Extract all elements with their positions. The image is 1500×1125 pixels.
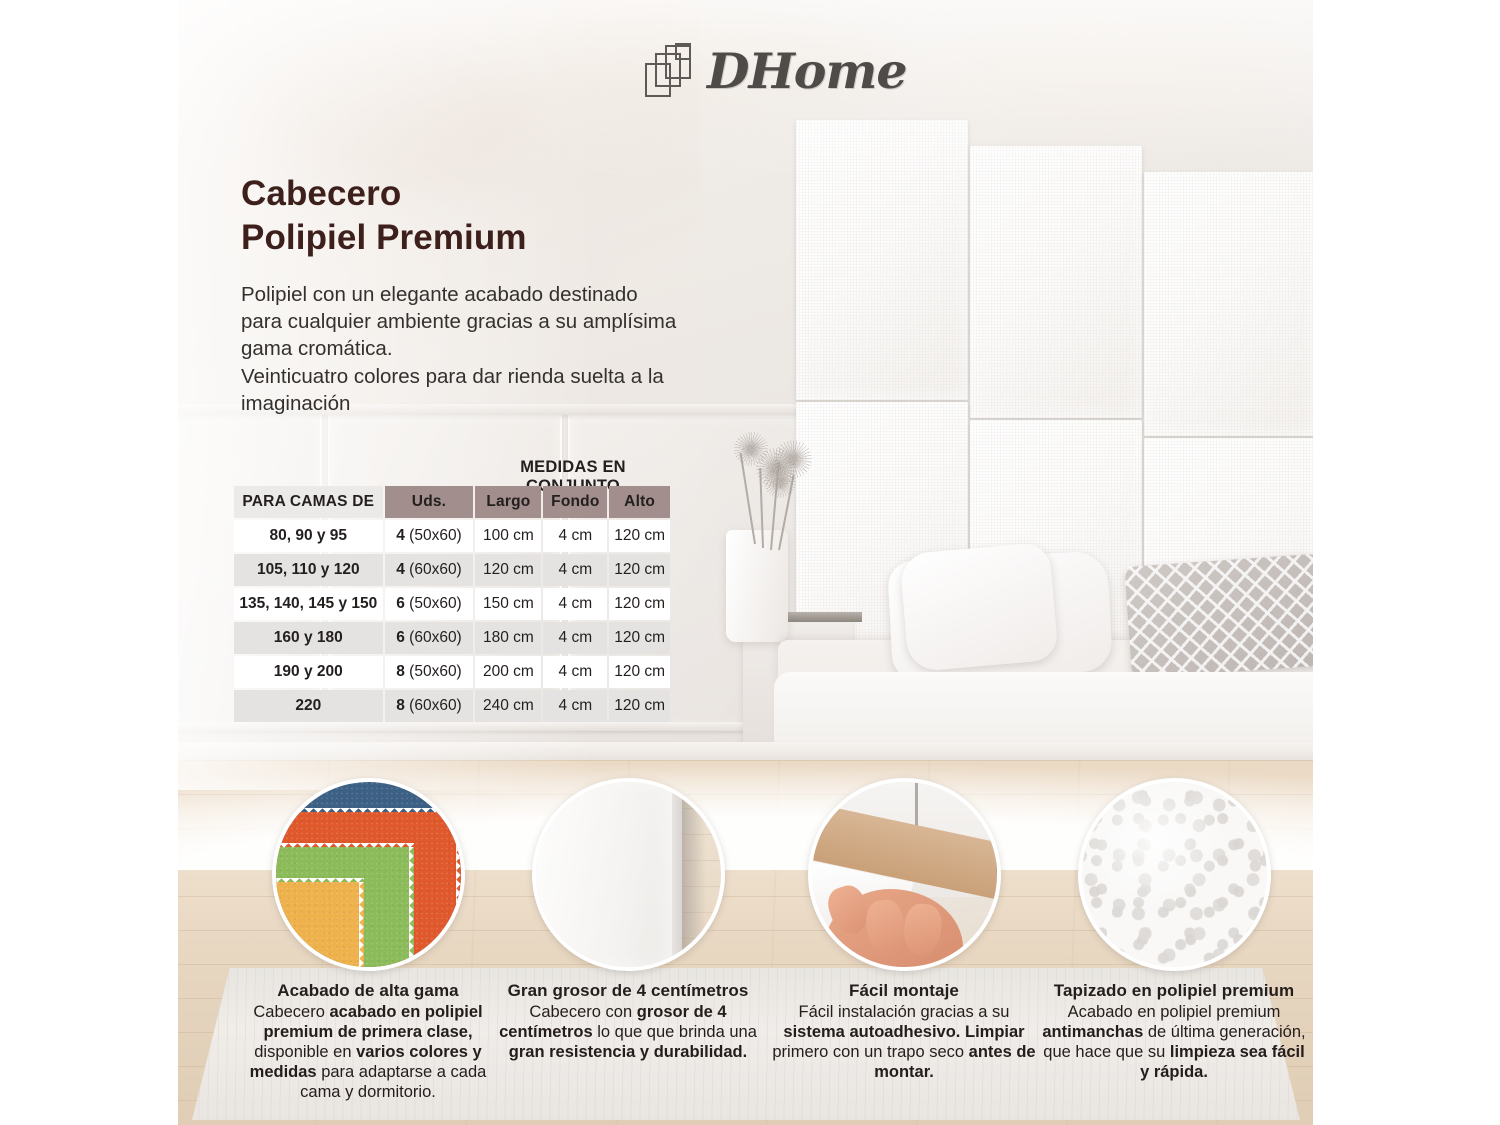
feature-body: Fácil instalación gracias a su sistema a… — [772, 1003, 1036, 1083]
cell-alto: 120 cm — [609, 554, 670, 586]
column-header-alto: Alto — [609, 486, 670, 518]
cell-uds: 6 (60x60) — [385, 622, 474, 654]
column-header-uds: Uds. — [385, 486, 474, 518]
cell-beds: 135, 140, 145 y 150 — [234, 588, 383, 620]
cell-uds: 4 (50x60) — [385, 520, 474, 552]
color-fabric-swatches-photo — [272, 778, 465, 971]
page-title: Cabecero Polipiel Premium — [241, 172, 761, 260]
table-header-row: PARA CAMAS DE Uds. Largo Fondo Alto — [234, 486, 670, 518]
description-paragraph-2: Veinticuatro colores para dar rienda sue… — [241, 363, 681, 417]
cell-beds: 105, 110 y 120 — [234, 554, 383, 586]
table-row: 160 y 1806 (60x60)180 cm4 cm120 cm — [234, 622, 670, 654]
white-leather-texture-photo — [1078, 778, 1271, 971]
cell-uds: 8 (60x60) — [385, 690, 474, 722]
feature-title: Gran grosor de 4 centímetros — [496, 981, 760, 1001]
table-row: 190 y 2008 (50x60)200 cm4 cm120 cm — [234, 656, 670, 688]
feature-item: Fácil montaje Fácil instalación gracias … — [772, 778, 1036, 1083]
cell-fondo: 4 cm — [543, 690, 607, 722]
hand-installing-adhesive-panel-photo — [808, 778, 1001, 971]
cell-largo: 100 cm — [475, 520, 541, 552]
cell-alto: 120 cm — [609, 622, 670, 654]
content-layer: DHome Cabecero Polipiel Premium Polipiel… — [0, 0, 1500, 1125]
column-header-beds: PARA CAMAS DE — [234, 486, 383, 518]
feature-item: Acabado de alta gama Cabecero acabado en… — [236, 778, 500, 1103]
cell-alto: 120 cm — [609, 588, 670, 620]
cell-alto: 120 cm — [609, 656, 670, 688]
cell-beds: 220 — [234, 690, 383, 722]
table-row: 105, 110 y 1204 (60x60)120 cm4 cm120 cm — [234, 554, 670, 586]
title-line-2: Polipiel Premium — [241, 216, 761, 260]
overlapping-squares-icon — [645, 43, 697, 99]
table-row: 2208 (60x60)240 cm4 cm120 cm — [234, 690, 670, 722]
cell-beds: 160 y 180 — [234, 622, 383, 654]
cell-beds: 80, 90 y 95 — [234, 520, 383, 552]
feature-title: Fácil montaje — [772, 981, 1036, 1001]
feature-body: Cabecero con grosor de 4 centímetros lo … — [496, 1003, 760, 1063]
cell-fondo: 4 cm — [543, 554, 607, 586]
cell-alto: 120 cm — [609, 520, 670, 552]
description-paragraph-1: Polipiel con un elegante acabado destina… — [241, 281, 681, 362]
brand-logo: DHome — [645, 38, 907, 104]
infographic-page: DHome Cabecero Polipiel Premium Polipiel… — [0, 0, 1500, 1125]
feature-title: Acabado de alta gama — [236, 981, 500, 1001]
cell-largo: 120 cm — [475, 554, 541, 586]
feature-title: Tapizado en polipiel premium — [1042, 981, 1306, 1001]
cell-fondo: 4 cm — [543, 588, 607, 620]
cell-fondo: 4 cm — [543, 622, 607, 654]
cell-uds: 8 (50x60) — [385, 656, 474, 688]
cell-beds: 190 y 200 — [234, 656, 383, 688]
cell-largo: 150 cm — [475, 588, 541, 620]
cell-alto: 120 cm — [609, 690, 670, 722]
title-line-1: Cabecero — [241, 172, 761, 216]
table-row: 80, 90 y 954 (50x60)100 cm4 cm120 cm — [234, 520, 670, 552]
feature-body: Cabecero acabado en polipiel premium de … — [236, 1003, 500, 1103]
thick-white-panel-photo — [532, 778, 725, 971]
cell-largo: 240 cm — [475, 690, 541, 722]
brand-name: DHome — [707, 47, 907, 96]
feature-item: Gran grosor de 4 centímetros Cabecero co… — [496, 778, 760, 1063]
column-header-fondo: Fondo — [543, 486, 607, 518]
cell-largo: 180 cm — [475, 622, 541, 654]
cell-fondo: 4 cm — [543, 656, 607, 688]
table-row: 135, 140, 145 y 1506 (50x60)150 cm4 cm12… — [234, 588, 670, 620]
feature-body: Acabado en polipiel premium antimanchas … — [1042, 1003, 1306, 1083]
cell-fondo: 4 cm — [543, 520, 607, 552]
column-header-largo: Largo — [475, 486, 541, 518]
cell-uds: 4 (60x60) — [385, 554, 474, 586]
cell-largo: 200 cm — [475, 656, 541, 688]
feature-item: Tapizado en polipiel premium Acabado en … — [1042, 778, 1306, 1083]
cell-uds: 6 (50x60) — [385, 588, 474, 620]
